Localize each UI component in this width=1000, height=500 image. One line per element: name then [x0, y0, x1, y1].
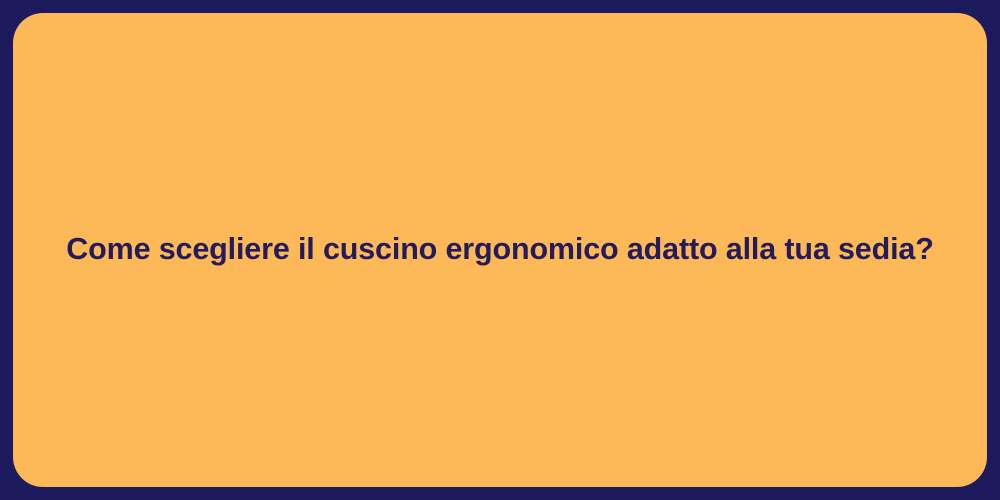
title-card-surface: Come scegliere il cuscino ergonomico ada…: [13, 13, 987, 487]
page-title: Come scegliere il cuscino ergonomico ada…: [13, 230, 987, 269]
banner-root: Come scegliere il cuscino ergonomico ada…: [0, 0, 1000, 500]
